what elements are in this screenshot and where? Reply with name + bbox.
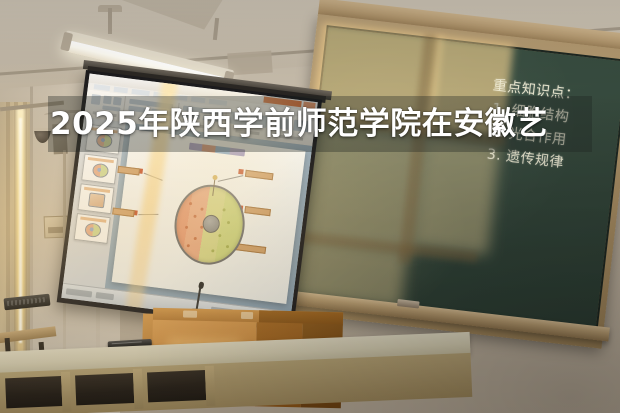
ppt-slide-stage[interactable] bbox=[105, 122, 313, 312]
diagram-pointer bbox=[212, 178, 215, 196]
ppt-slide-thumbnail[interactable] bbox=[81, 153, 118, 184]
podium-fitting bbox=[183, 310, 197, 317]
ceiling-vent bbox=[227, 50, 272, 75]
curtain bbox=[0, 102, 30, 352]
ppt-slide-thumbnail[interactable] bbox=[77, 183, 114, 214]
podium-fitting bbox=[241, 312, 253, 319]
window-shadow-mullion bbox=[398, 34, 437, 264]
title-overlay-text: 2025年陕西学前师范学院在安徽艺 bbox=[50, 102, 590, 146]
cell-structure-diagram bbox=[170, 181, 249, 269]
sunlight-core bbox=[19, 118, 22, 343]
diagram-callout-label bbox=[117, 166, 140, 176]
diagram-callout-line bbox=[138, 214, 158, 215]
diagram-callout-line bbox=[144, 173, 163, 181]
ppt-current-slide bbox=[112, 129, 306, 304]
cell-nucleus bbox=[202, 214, 221, 234]
diagram-callout-marker bbox=[238, 169, 244, 175]
classroom-photo: 重点知识点： 1. 细胞结构 2. 光合作用 3. 遗传规律 bbox=[0, 0, 620, 413]
lamp-stem bbox=[108, 8, 112, 34]
ppt-slide-thumbnail[interactable] bbox=[74, 213, 111, 244]
window-shadow-mullion bbox=[298, 231, 478, 263]
blackboard-surface: 重点知识点： 1. 细胞结构 2. 光合作用 3. 遗传规律 bbox=[296, 25, 620, 330]
diagram-callout-line bbox=[218, 175, 244, 182]
diagram-callout-label bbox=[244, 206, 271, 216]
diagram-callout-label bbox=[112, 207, 135, 217]
diagram-callout-label bbox=[245, 170, 274, 180]
